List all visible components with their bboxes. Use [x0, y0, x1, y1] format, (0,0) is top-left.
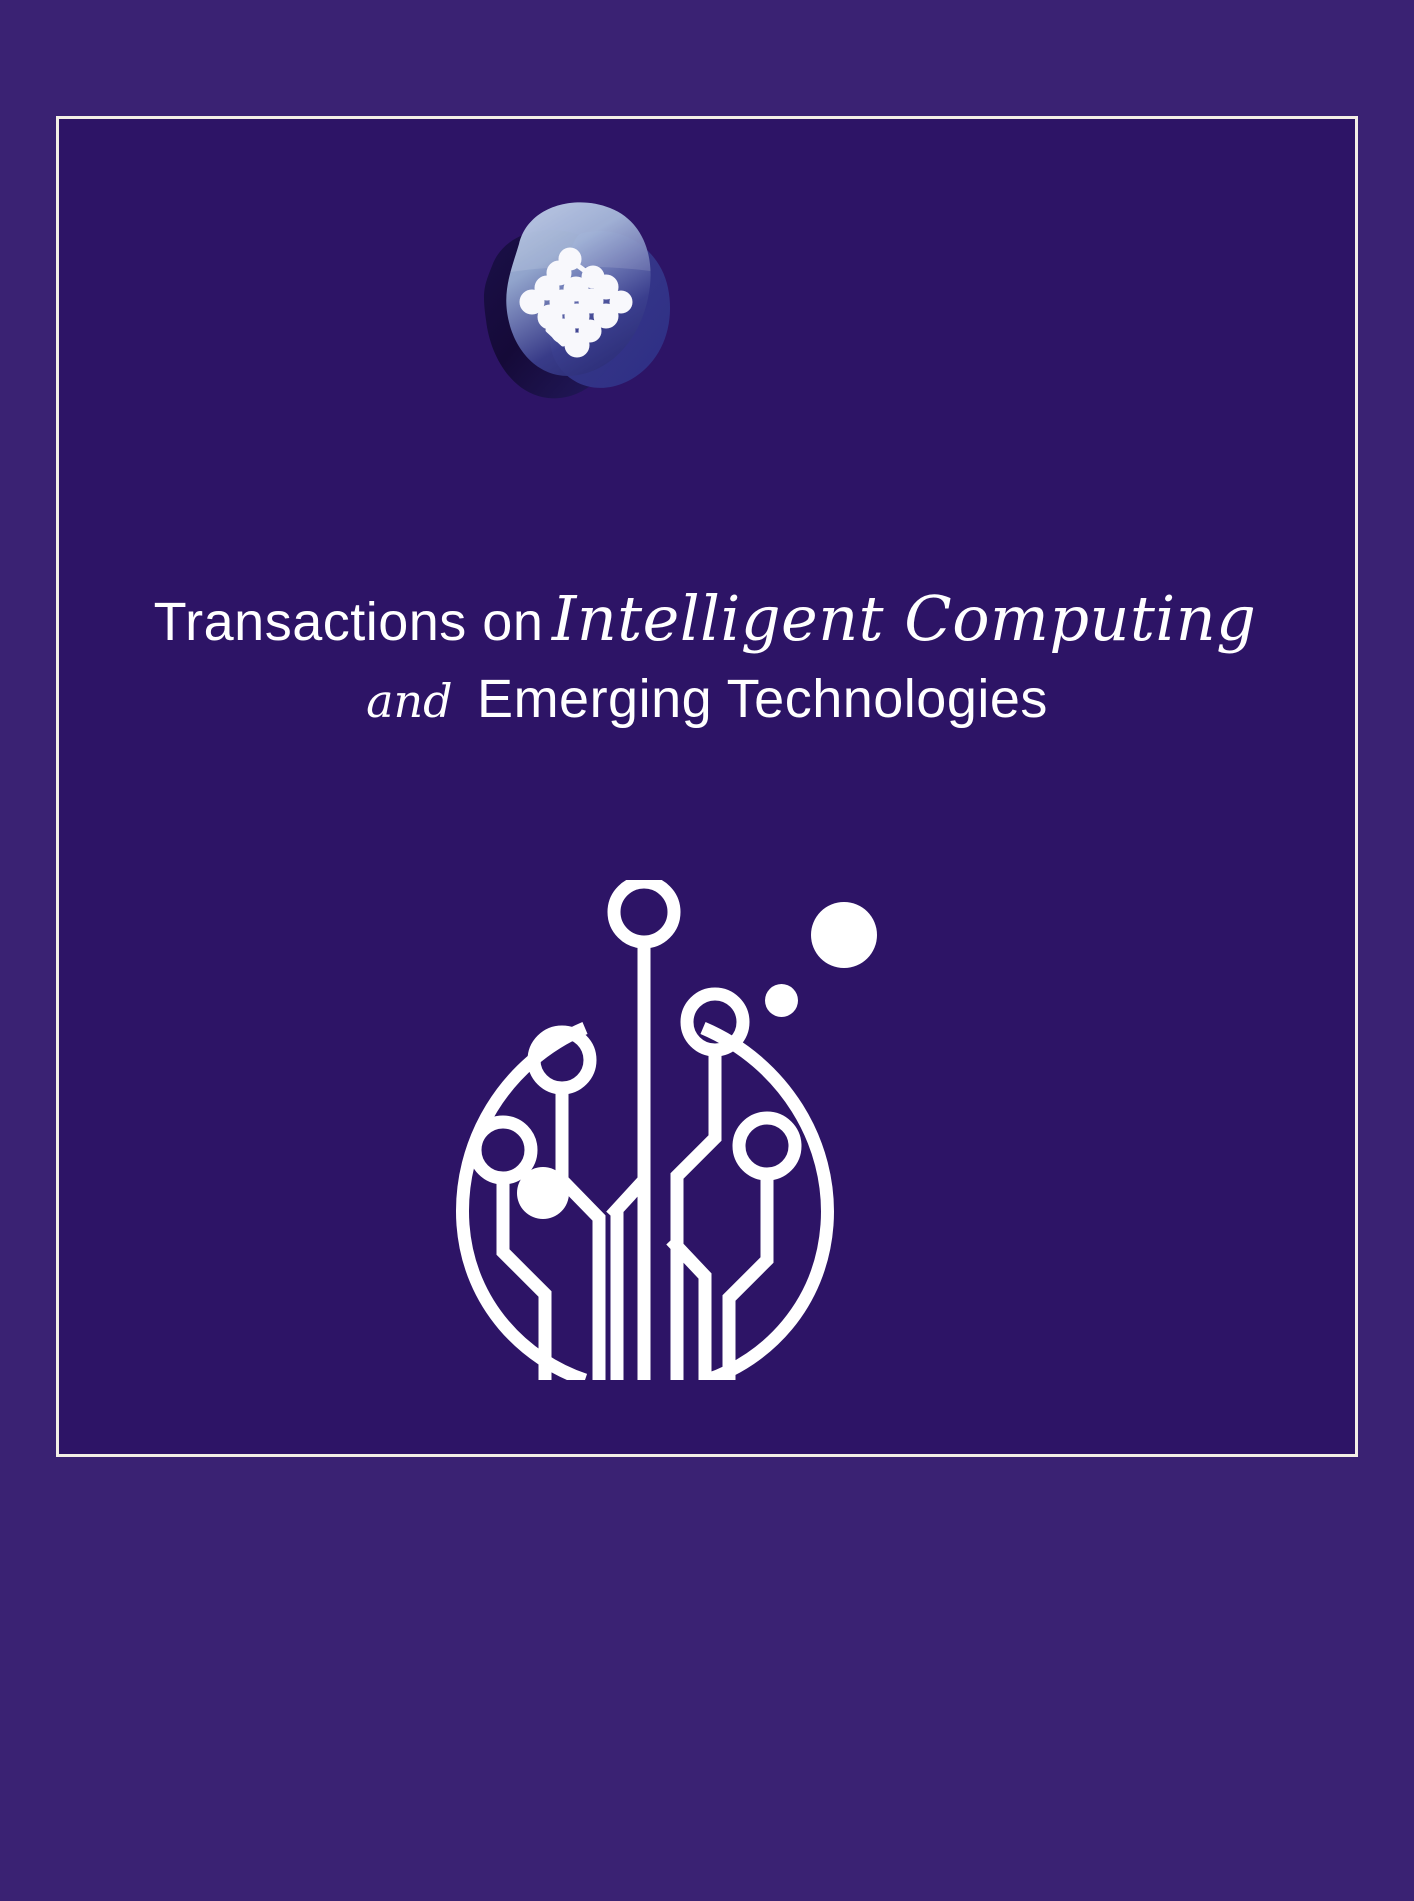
title-script-and: and	[366, 674, 473, 728]
node-right-upper	[687, 994, 743, 1050]
trace-left-mid	[562, 1090, 599, 1380]
node-far-left	[475, 1122, 531, 1178]
circuit-nodes	[475, 882, 795, 1178]
title-sans-emerging-technologies: Emerging Technologies	[477, 669, 1048, 729]
node-filled	[517, 1167, 569, 1219]
journal-logo	[420, 170, 720, 470]
floating-dot-small	[765, 984, 798, 1017]
floating-dot-large	[811, 902, 877, 968]
node-right-lower	[739, 1118, 795, 1174]
title-line-1: Transactions on Intelligent Computing	[0, 588, 1414, 650]
journal-cover-page: Transactions on Intelligent Computing an…	[0, 0, 1414, 1901]
title-sans-transactions-on: Transactions on	[154, 592, 544, 652]
title-script-intelligent-computing: Intelligent Computing	[548, 582, 1261, 655]
title-line-2: and Emerging Technologies	[0, 672, 1414, 726]
node-top	[614, 882, 674, 942]
journal-title: Transactions on Intelligent Computing an…	[0, 588, 1414, 726]
